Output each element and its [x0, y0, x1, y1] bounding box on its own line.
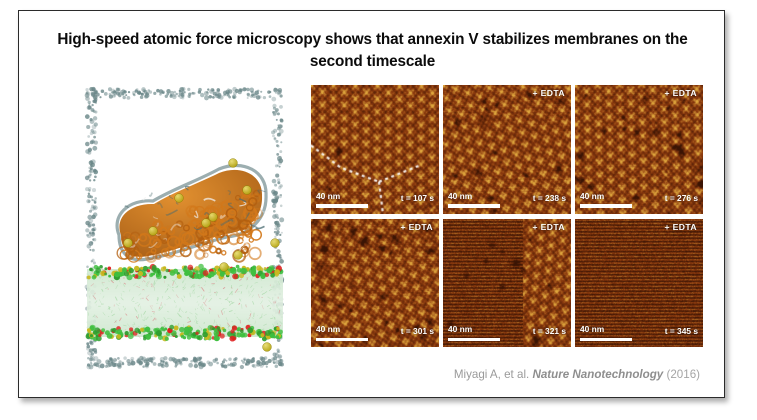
afm-scalebar — [580, 338, 632, 342]
afm-scalebar-label: 40 nm — [316, 324, 340, 334]
calcium-ion — [271, 239, 280, 248]
citation-journal: Nature Nanotechnology — [532, 368, 663, 381]
afm-scalebar — [448, 204, 500, 208]
afm-scalebar-label: 40 nm — [448, 324, 472, 334]
calcium-ion — [124, 239, 133, 248]
afm-timestamp-label: t = 238 s — [533, 193, 566, 203]
page-title: High-speed atomic force microscopy shows… — [39, 29, 706, 72]
afm-edta-label: + EDTA — [664, 222, 697, 232]
afm-scalebar — [580, 204, 632, 208]
afm-scalebar-label: 40 nm — [580, 324, 604, 334]
calcium-ion — [263, 343, 272, 352]
md-simulation-svg — [61, 83, 309, 373]
afm-edta-label: + EDTA — [400, 222, 433, 232]
afm-scalebar — [316, 338, 368, 342]
citation: Miyagi A, et al. Nature Nanotechnology (… — [454, 368, 700, 381]
citation-year: (2016) — [666, 368, 700, 381]
afm-timestamp-label: t = 301 s — [401, 326, 434, 336]
calcium-ion — [149, 227, 158, 236]
calcium-ion — [209, 213, 218, 222]
afm-edta-label: + EDTA — [532, 222, 565, 232]
citation-authors: Miyagi A, et al. — [454, 368, 529, 381]
calcium-ion — [175, 194, 184, 203]
annexin-v-protein — [117, 165, 270, 262]
calcium-ion — [202, 219, 211, 228]
afm-timestamp-label: t = 345 s — [665, 326, 698, 336]
molecular-dynamics-figure — [61, 83, 309, 373]
afm-panel-grid: 40 nmt = 107 s+ EDTA40 nmt = 238 s+ EDTA… — [311, 85, 703, 347]
calcium-ion — [243, 186, 252, 195]
afm-edta-label: + EDTA — [664, 88, 697, 98]
afm-scalebar-label: 40 nm — [316, 191, 340, 201]
afm-timestamp-label: t = 321 s — [533, 326, 566, 336]
afm-scalebar — [316, 204, 368, 208]
afm-panel: + EDTA40 nmt = 345 s — [575, 219, 703, 348]
calcium-ion — [220, 263, 229, 272]
afm-panel: + EDTA40 nmt = 238 s — [443, 85, 571, 214]
slide-frame: High-speed atomic force microscopy shows… — [18, 10, 725, 398]
calcium-ion — [229, 159, 238, 168]
afm-timestamp-label: t = 107 s — [401, 193, 434, 203]
afm-edta-label: + EDTA — [532, 88, 565, 98]
afm-scalebar-label: 40 nm — [448, 191, 472, 201]
calcium-ion — [234, 251, 243, 260]
afm-scalebar-label: 40 nm — [580, 191, 604, 201]
afm-timestamp-label: t = 276 s — [665, 193, 698, 203]
afm-panel: + EDTA40 nmt = 321 s — [443, 219, 571, 348]
afm-panel: + EDTA40 nmt = 276 s — [575, 85, 703, 214]
afm-scalebar — [448, 338, 500, 342]
afm-panel: 40 nmt = 107 s — [311, 85, 439, 214]
afm-panel: + EDTA40 nmt = 301 s — [311, 219, 439, 348]
